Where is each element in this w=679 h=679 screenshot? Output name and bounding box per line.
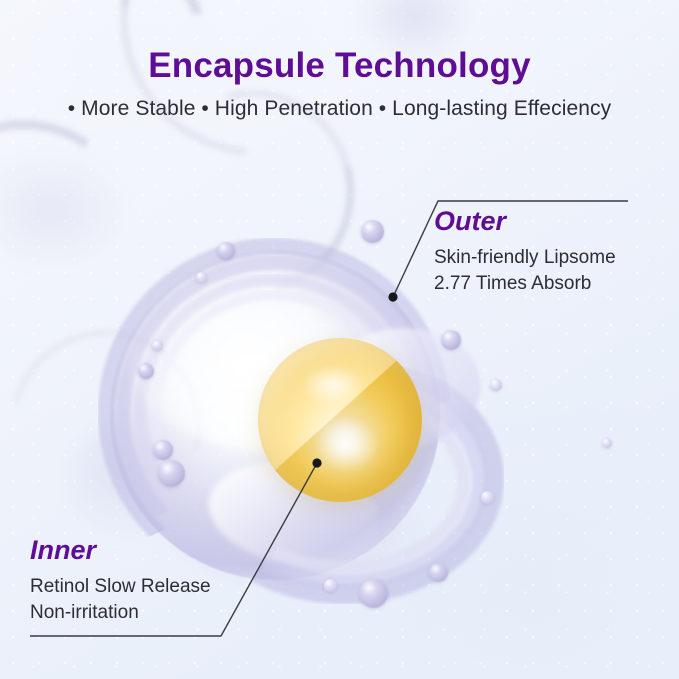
callout-inner-line-1: Retinol Slow Release	[30, 576, 211, 598]
core-rim-shading	[258, 338, 422, 502]
callout-inner-line-2: Non-irritation	[30, 602, 139, 624]
floating-bubble	[324, 579, 337, 592]
floating-bubble	[602, 438, 612, 448]
page-title: Encapsule Technology	[0, 46, 679, 86]
floating-bubble	[158, 460, 185, 487]
callout-outer-line-2: 2.77 Times Absorb	[434, 273, 591, 295]
benefits-subtitle: • More Stable • High Penetration • Long-…	[0, 97, 679, 121]
callout-outer-title: Outer	[434, 206, 506, 237]
floating-bubble	[429, 563, 448, 582]
floating-bubble	[441, 330, 461, 350]
callout-inner-title: Inner	[30, 535, 96, 566]
floating-bubble	[361, 220, 384, 243]
floating-bubble	[217, 242, 235, 260]
floating-bubble	[138, 363, 154, 379]
floating-bubble	[196, 272, 207, 283]
callout-outer-line-1: Skin-friendly Lipsome	[434, 247, 616, 269]
floating-bubble	[359, 579, 388, 608]
product-infographic: Encapsule Technology • More Stable • Hig…	[0, 0, 679, 679]
floating-bubble	[152, 340, 163, 351]
floating-bubble	[153, 440, 173, 460]
retinol-core	[258, 338, 422, 502]
floating-bubble	[490, 379, 502, 391]
floating-bubble	[481, 491, 494, 504]
